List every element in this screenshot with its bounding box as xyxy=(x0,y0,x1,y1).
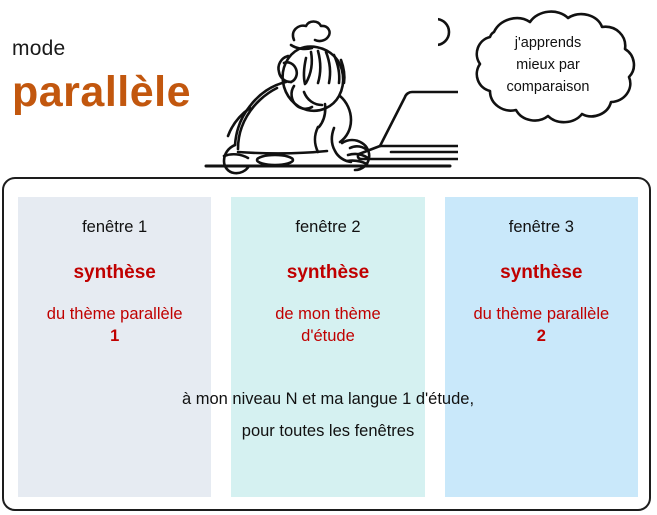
window-column-1-title: fenêtre 1 xyxy=(18,218,211,238)
thought-bubble-line-2: mieux par xyxy=(455,55,641,77)
window-column-1-synthesis: synthèse xyxy=(18,262,211,285)
thought-bubble-text: j'apprends mieux par comparaison xyxy=(455,33,641,98)
window-column-2-synthesis: synthèse xyxy=(231,262,424,285)
mode-title: parallèle xyxy=(12,70,191,115)
thought-bubble-line-3: comparaison xyxy=(455,77,641,99)
window-column-3[interactable]: fenêtre 3 synthèse du thème parallèle 2 xyxy=(445,197,638,497)
window-columns: fenêtre 1 synthèse du thème parallèle 1 … xyxy=(18,197,638,497)
window-column-3-desc-line-1: du thème parallèle xyxy=(473,305,609,323)
parallel-mode-panel: fenêtre 1 synthèse du thème parallèle 1 … xyxy=(2,177,651,511)
thought-dot-5 xyxy=(438,19,449,45)
window-column-2-title: fenêtre 2 xyxy=(231,218,424,238)
thought-bubble-line-1: j'apprends xyxy=(455,33,641,55)
window-column-2-description: de mon thème d'étude xyxy=(231,304,424,348)
window-column-1[interactable]: fenêtre 1 synthèse du thème parallèle 1 xyxy=(18,197,211,497)
window-column-3-desc-line-2: 2 xyxy=(537,327,546,345)
window-column-1-description: du thème parallèle 1 xyxy=(18,304,211,348)
window-column-3-description: du thème parallèle 2 xyxy=(445,304,638,348)
window-column-1-desc-line-2: 1 xyxy=(110,327,119,345)
window-column-2-desc-line-1: de mon thème xyxy=(275,305,380,323)
window-column-1-desc-line-1: du thème parallèle xyxy=(47,305,183,323)
mode-label: mode xyxy=(12,38,65,59)
header-area: mode parallèle xyxy=(0,0,657,177)
person-studying-at-laptop-illustration xyxy=(198,0,458,178)
window-column-2[interactable]: fenêtre 2 synthèse de mon thème d'étude xyxy=(231,197,424,497)
window-column-2-desc-line-2: d'étude xyxy=(301,327,355,345)
window-column-3-title: fenêtre 3 xyxy=(445,218,638,238)
window-column-3-synthesis: synthèse xyxy=(445,262,638,285)
